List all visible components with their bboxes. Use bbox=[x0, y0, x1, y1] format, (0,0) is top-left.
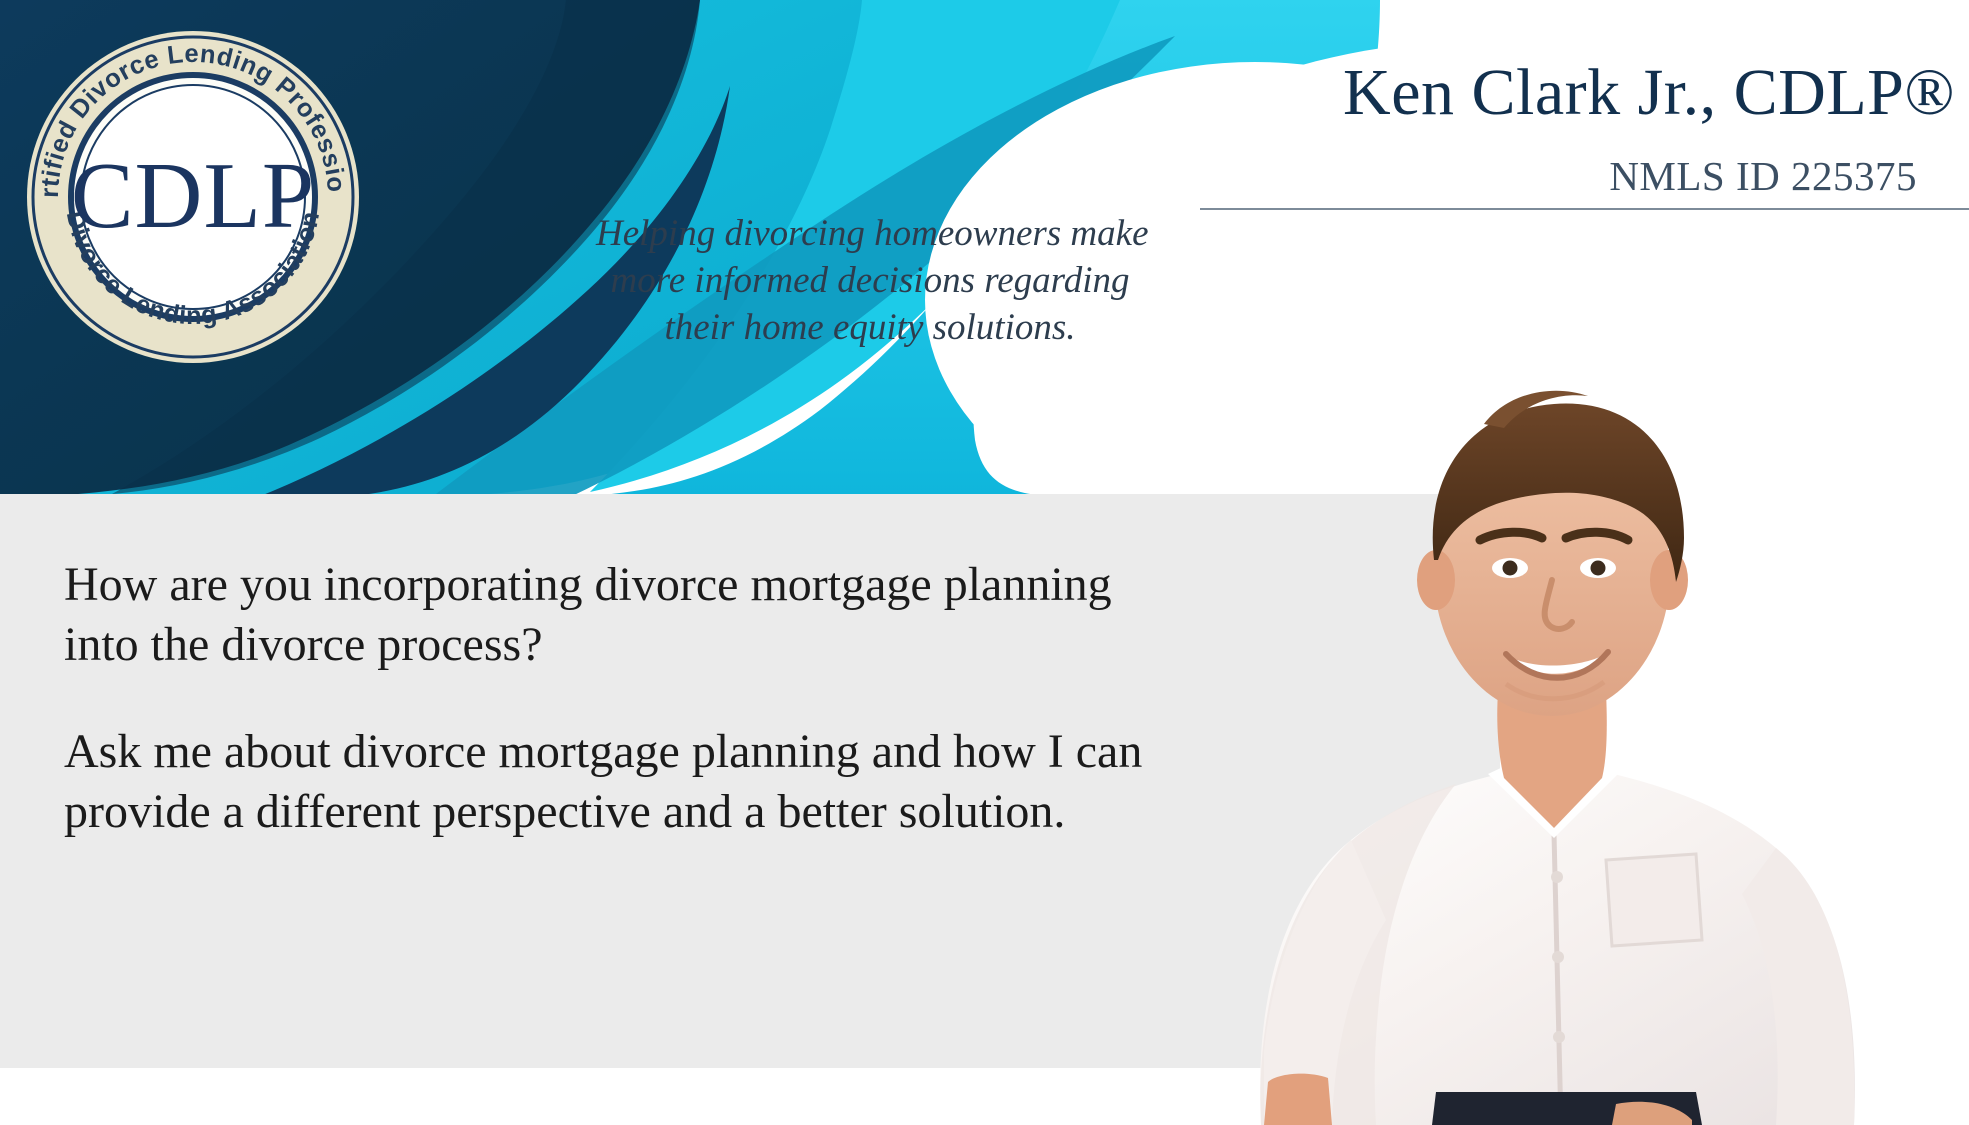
page-title: Ken Clark Jr., CDLP® bbox=[1343, 58, 1955, 128]
logo-acronym-text: CDLP bbox=[71, 144, 315, 248]
message-panel-body: How are you incorporating divorce mortga… bbox=[64, 555, 1184, 841]
business-card-graphic: Certified Divorce Lending Professional D… bbox=[0, 0, 1969, 1125]
portrait-photo bbox=[1136, 292, 1969, 1125]
nmls-id-label: NMLS ID 225375 bbox=[1609, 154, 1917, 199]
tagline-block: Helping divorcing homeowners make more i… bbox=[596, 211, 1144, 352]
message-paragraph-1: How are you incorporating divorce mortga… bbox=[64, 555, 1184, 674]
tagline-line-2: more informed decisions regarding bbox=[596, 258, 1144, 305]
cdlp-logo-badge: Certified Divorce Lending Professional D… bbox=[18, 22, 368, 372]
tagline-line-3: their home equity solutions. bbox=[596, 305, 1144, 352]
header-divider-rule bbox=[1200, 208, 1969, 210]
tagline-line-1: Helping divorcing homeowners make bbox=[596, 211, 1144, 258]
message-paragraph-2: Ask me about divorce mortgage planning a… bbox=[64, 722, 1184, 841]
